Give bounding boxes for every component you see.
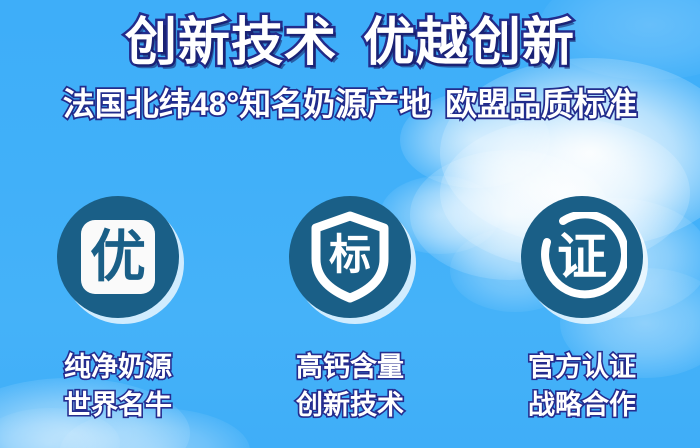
subtitle: 法国北纬48°知名奶源产地欧盟品质标准 [0,84,700,124]
caption-line-1: 纯净奶源 [44,348,192,386]
badge-item: 标 [276,196,424,318]
headline: 创新技术优越创新 [0,12,700,74]
badge-glyph: 证 [557,232,607,282]
badge-item: 证 [508,196,656,318]
badge-circle-standard: 标 [289,196,411,318]
caption-line-2: 世界名牛 [44,386,192,424]
caption-row: 纯净奶源 世界名牛 高钙含量 创新技术 官方认证 战略合作 [0,348,700,424]
badge-item: 优 [44,196,192,318]
subtitle-part-1: 法国北纬48°知名奶源产地 [63,86,431,122]
badge-circle-certified: 证 [521,196,643,318]
rounded-square-badge-icon: 优 [81,220,155,294]
badge-row: 优 标 证 [0,196,700,318]
caption-group: 高钙含量 创新技术 [276,348,424,424]
promo-banner: 创新技术优越创新 法国北纬48°知名奶源产地欧盟品质标准 优 标 [0,0,700,448]
headline-part-1: 创新技术 [125,14,337,72]
badge-circle-quality: 优 [57,196,179,318]
caption-line-1: 高钙含量 [276,348,424,386]
headline-part-2: 优越创新 [363,14,575,72]
caption-line-1: 官方认证 [508,348,656,386]
shield-badge-icon: 标 [308,211,392,303]
caption-line-2: 战略合作 [508,386,656,424]
subtitle-text: 法国北纬48°知名奶源产地欧盟品质标准 [63,84,637,124]
caption-group: 官方认证 战略合作 [508,348,656,424]
caption-line-2: 创新技术 [276,386,424,424]
badge-glyph: 标 [329,234,371,276]
headline-text: 创新技术优越创新 [125,12,575,74]
subtitle-part-2: 欧盟品质标准 [445,86,637,122]
caption-group: 纯净奶源 世界名牛 [44,348,192,424]
badge-glyph: 优 [90,229,146,285]
ring-badge-icon: 证 [537,212,627,302]
